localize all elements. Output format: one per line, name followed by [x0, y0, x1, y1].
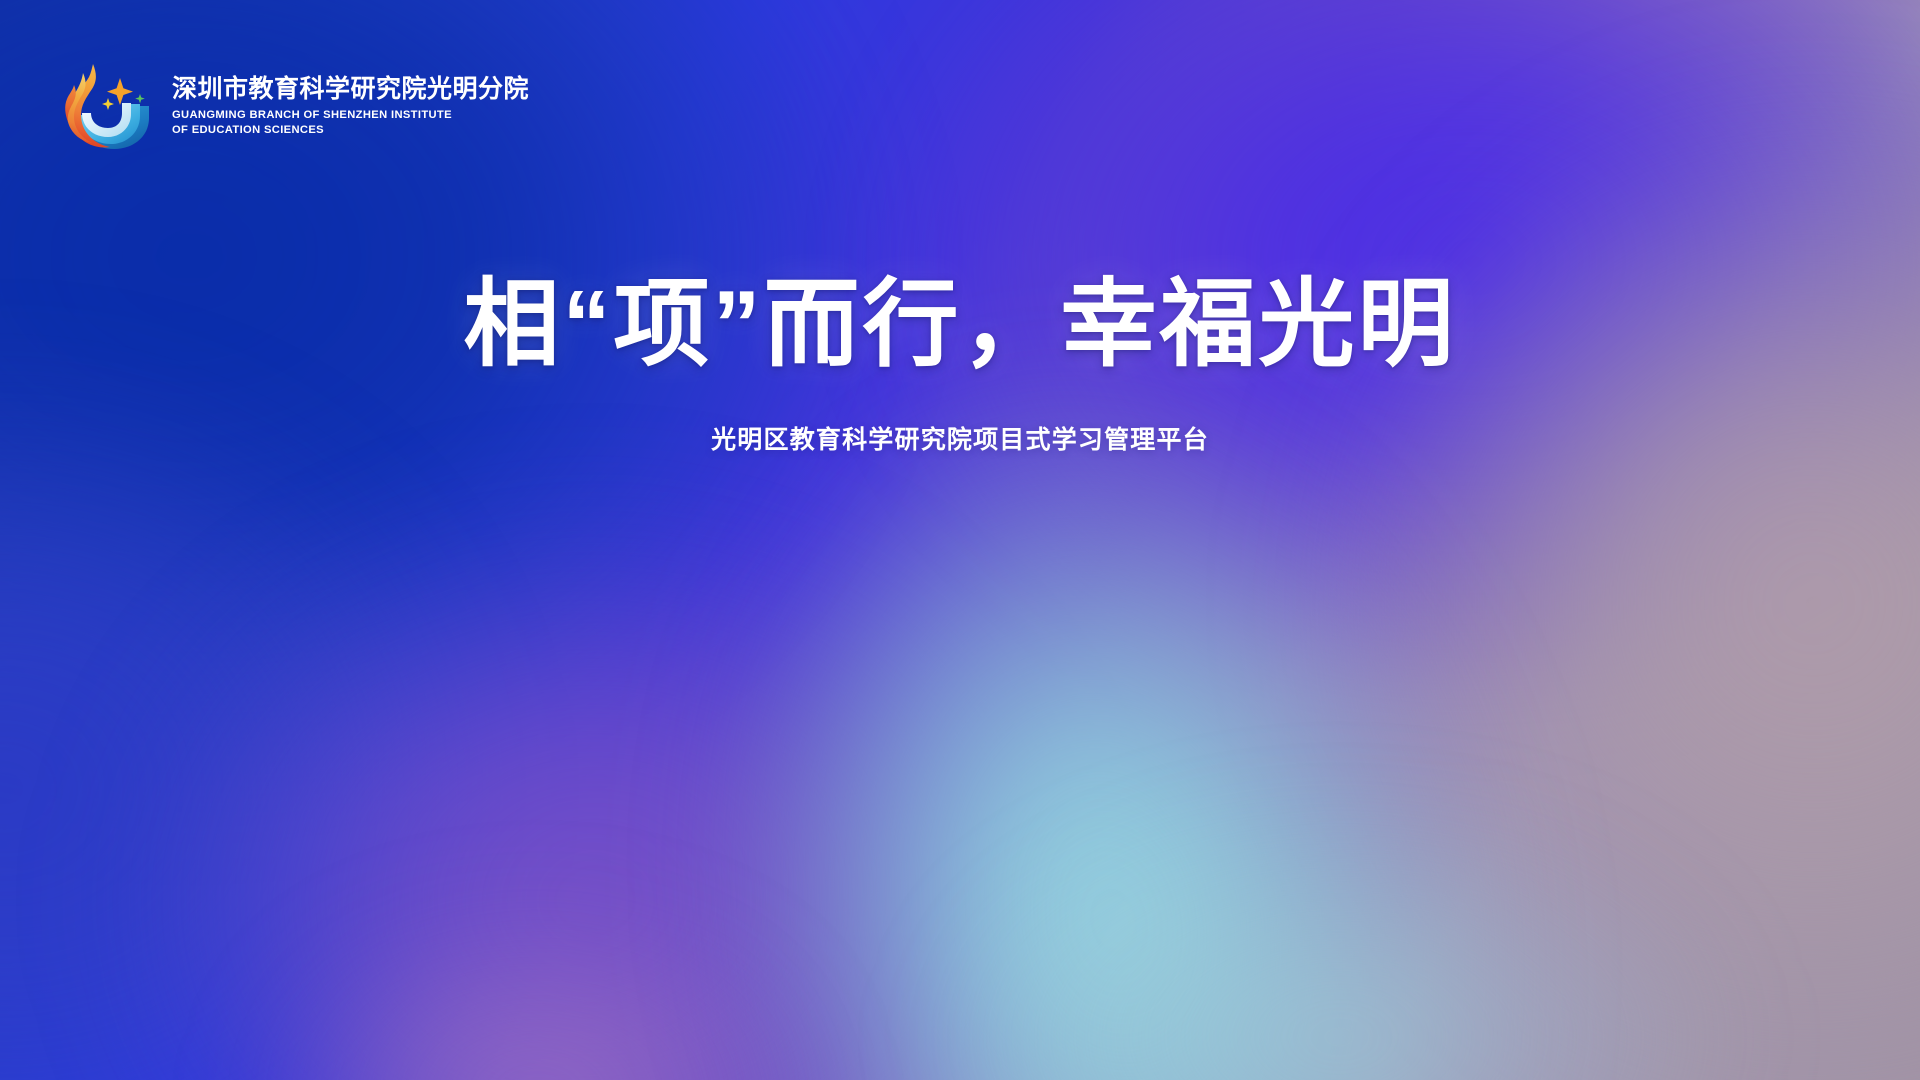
- star-yellow-icon: [102, 98, 114, 110]
- institute-name-cn: 深圳市教育科学研究院光明分院: [172, 75, 529, 103]
- institute-name-en-line1: GUANGMING BRANCH OF SHENZHEN INSTITUTE: [172, 108, 529, 123]
- background-light-haze: [883, 756, 1920, 1080]
- star-green-icon: [135, 94, 145, 103]
- star-orange-icon: [107, 78, 133, 105]
- institute-name-en-line2: OF EDUCATION SCIENCES: [172, 123, 529, 138]
- landing-page: 深圳市教育科学研究院光明分院 GUANGMING BRANCH OF SHENZ…: [0, 0, 1920, 1080]
- institute-name-en: GUANGMING BRANCH OF SHENZHEN INSTITUTE O…: [172, 108, 529, 137]
- logo-text-block: 深圳市教育科学研究院光明分院 GUANGMING BRANCH OF SHENZ…: [172, 71, 529, 137]
- institute-logo[interactable]: 深圳市教育科学研究院光明分院 GUANGMING BRANCH OF SHENZ…: [52, 56, 529, 152]
- flame-swoosh-emblem-icon: [52, 56, 156, 152]
- background-rose-glow: [154, 886, 922, 1080]
